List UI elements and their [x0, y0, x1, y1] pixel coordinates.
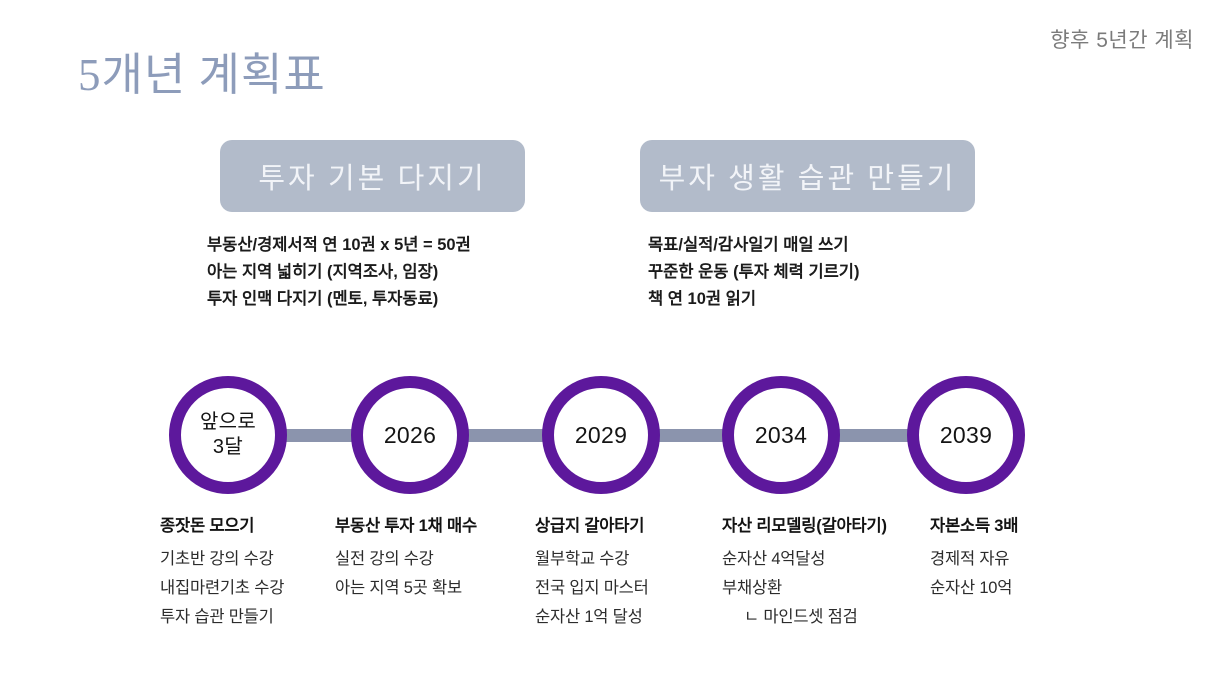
banner-label: 투자 기본 다지기 [258, 155, 486, 197]
timeline-node-label: 2029 [575, 422, 627, 448]
timeline-column-4: 자산 리모델링(갈아타기)순자산 4억달성부채상환ㄴ 마인드셋 점검 [722, 512, 887, 632]
column-item: 경제적 자유 [930, 545, 1018, 574]
column-title: 자산 리모델링(갈아타기) [722, 512, 887, 536]
column-sub-item: ㄴ 마인드셋 점검 [722, 603, 887, 632]
banner-label: 부자 생활 습관 만들기 [659, 155, 957, 197]
banner-notes-1: 부동산/경제서적 연 10권 x 5년 = 50권아는 지역 넓히기 (지역조사… [207, 232, 471, 313]
column-item: 실전 강의 수강 [335, 545, 477, 574]
column-item: 부채상환 [722, 574, 887, 603]
column-item: 순자산 1억 달성 [535, 603, 649, 632]
timeline-column-3: 상급지 갈아타기월부학교 수강전국 입지 마스터순자산 1억 달성 [535, 512, 649, 632]
column-title: 부동산 투자 1채 매수 [335, 512, 477, 536]
banner-note-line: 책 연 10권 읽기 [648, 286, 860, 313]
column-title: 자본소득 3배 [930, 512, 1018, 536]
column-item: 기초반 강의 수강 [160, 545, 284, 574]
timeline-node-4[interactable]: 2034 [722, 376, 840, 494]
column-item: 전국 입지 마스터 [535, 574, 649, 603]
banner-note-line: 목표/실적/감사일기 매일 쓰기 [648, 232, 860, 259]
column-item: 투자 습관 만들기 [160, 603, 284, 632]
timeline-column-1: 종잣돈 모으기기초반 강의 수강내집마련기초 수강투자 습관 만들기 [160, 512, 284, 632]
timeline: 앞으로 3달2026202920342039 [0, 0, 1216, 160]
column-item: 내집마련기초 수강 [160, 574, 284, 603]
timeline-node-5[interactable]: 2039 [907, 376, 1025, 494]
timeline-node-label: 2034 [755, 422, 807, 448]
timeline-column-2: 부동산 투자 1채 매수실전 강의 수강아는 지역 5곳 확보 [335, 512, 477, 603]
banner-note-line: 부동산/경제서적 연 10권 x 5년 = 50권 [207, 232, 471, 259]
timeline-node-1[interactable]: 앞으로 3달 [169, 376, 287, 494]
column-item: 순자산 10억 [930, 574, 1018, 603]
timeline-column-5: 자본소득 3배경제적 자유순자산 10억 [930, 512, 1018, 603]
slide-canvas: 향후 5년간 계획 5개년 계획표 투자 기본 다지기부동산/경제서적 연 10… [0, 0, 1216, 684]
timeline-connector [654, 429, 728, 442]
column-item: 순자산 4억달성 [722, 545, 887, 574]
timeline-node-3[interactable]: 2029 [542, 376, 660, 494]
banner-note-line: 꾸준한 운동 (투자 체력 기르기) [648, 259, 860, 286]
timeline-connector [463, 429, 548, 442]
timeline-node-label: 2026 [384, 422, 436, 448]
column-item: 월부학교 수강 [535, 545, 649, 574]
column-item: 아는 지역 5곳 확보 [335, 574, 477, 603]
timeline-connector [281, 429, 357, 442]
column-title: 종잣돈 모으기 [160, 512, 284, 536]
column-title: 상급지 갈아타기 [535, 512, 649, 536]
timeline-connector [834, 429, 913, 442]
banner-note-line: 투자 인맥 다지기 (멘토, 투자동료) [207, 286, 471, 313]
banner-note-line: 아는 지역 넓히기 (지역조사, 임장) [207, 259, 471, 286]
timeline-node-2[interactable]: 2026 [351, 376, 469, 494]
banner-notes-2: 목표/실적/감사일기 매일 쓰기꾸준한 운동 (투자 체력 기르기)책 연 10… [648, 232, 860, 313]
timeline-node-label: 2039 [940, 422, 992, 448]
timeline-node-label: 앞으로 3달 [200, 410, 256, 460]
